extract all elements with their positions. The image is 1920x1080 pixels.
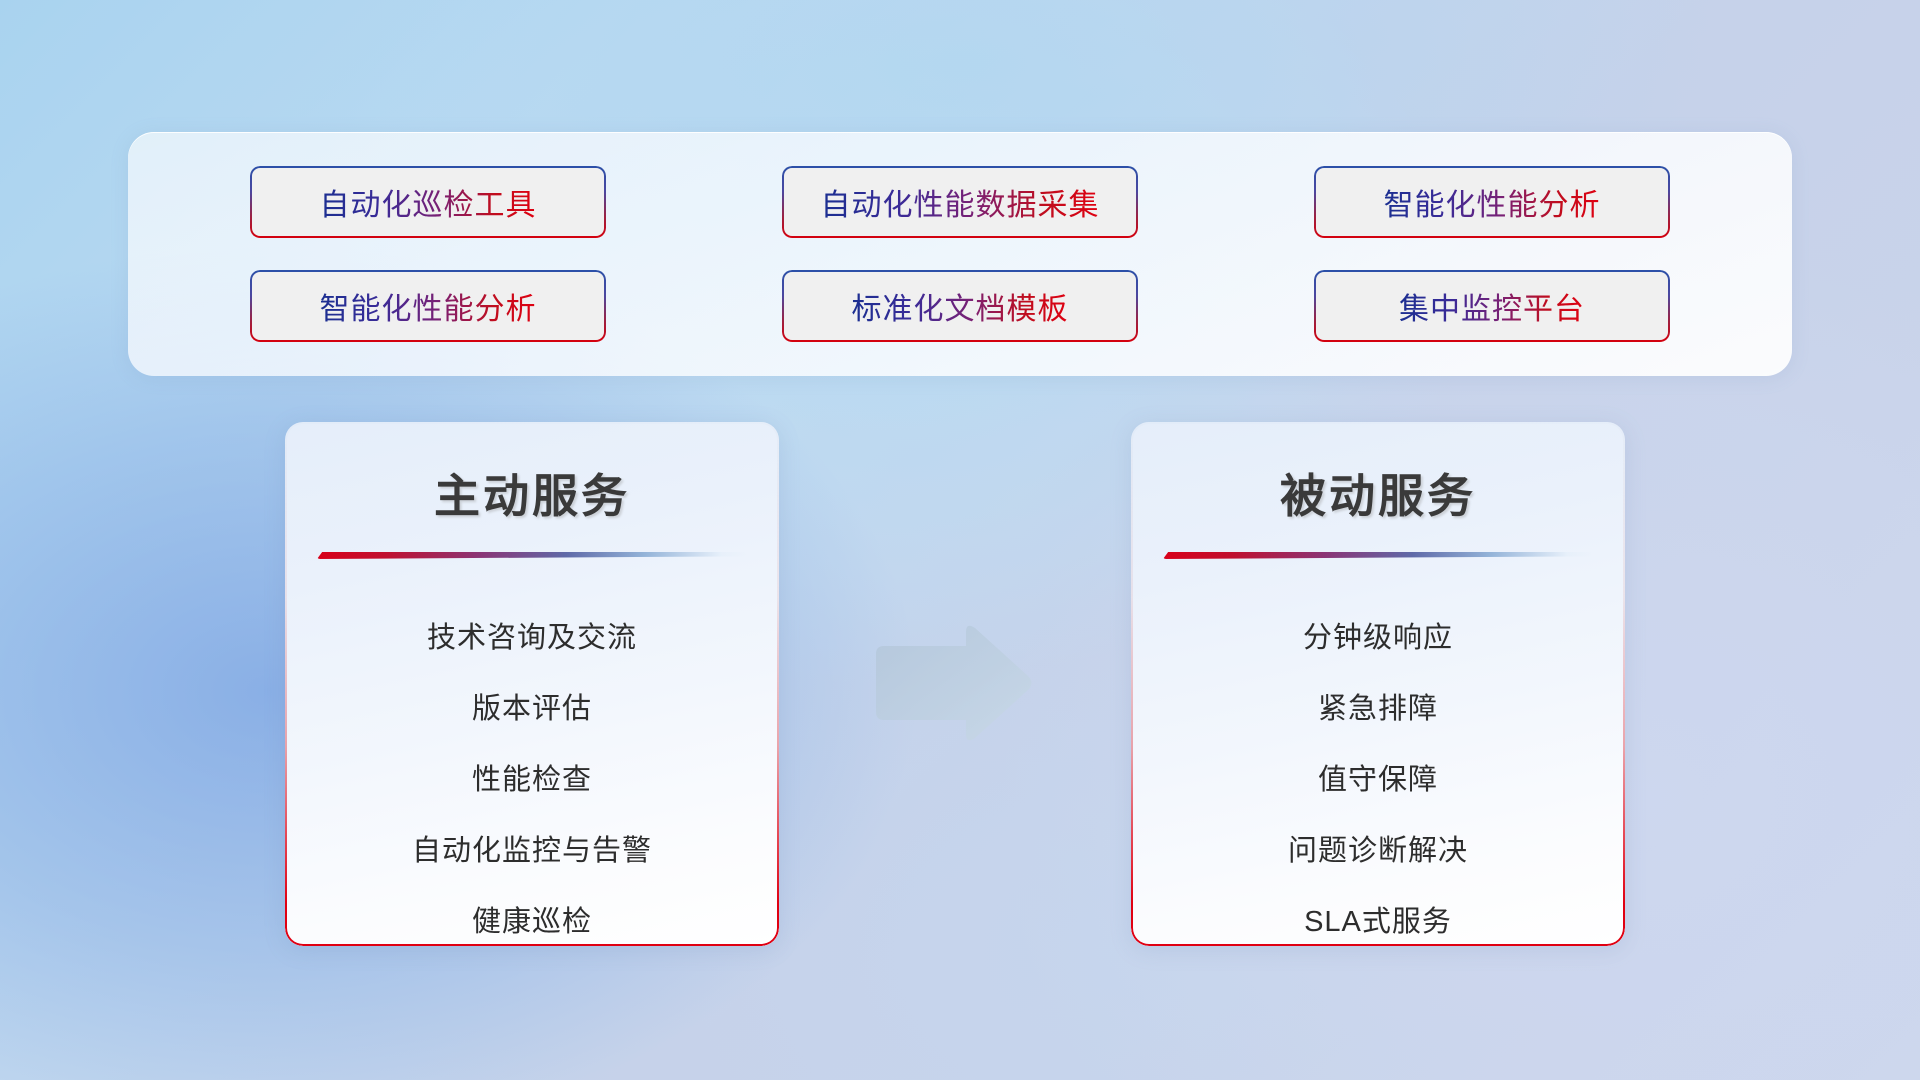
list-item: 分钟级响应	[1131, 603, 1625, 674]
service-card-active: 主动服务 技术咨询及交流 版本评估 性能检查 自动化监控与告警 健康巡检	[285, 422, 779, 946]
list-item: 版本评估	[285, 674, 779, 745]
list-item: 健康巡检	[285, 887, 779, 946]
capability-tag-grid: 自动化巡检工具 自动化性能数据采集 智能化性能分析 智能化性能分析 标准化文档模…	[128, 132, 1792, 376]
capability-tag-label: 自动化性能数据采集	[821, 180, 1100, 224]
capability-panel: 自动化巡检工具 自动化性能数据采集 智能化性能分析 智能化性能分析 标准化文档模…	[128, 132, 1792, 376]
capability-tag-label: 智能化性能分析	[320, 284, 537, 328]
arrow-right-icon	[872, 622, 1034, 744]
list-item: 问题诊断解决	[1131, 816, 1625, 887]
list-item: 值守保障	[1131, 745, 1625, 816]
capability-tag-label: 集中监控平台	[1399, 284, 1585, 328]
slide-canvas: 自动化巡检工具 自动化性能数据采集 智能化性能分析 智能化性能分析 标准化文档模…	[0, 0, 1920, 1080]
capability-tag[interactable]: 智能化性能分析	[250, 270, 606, 342]
card-title-active: 主动服务	[285, 460, 779, 526]
title-rule	[317, 552, 747, 559]
capability-tag[interactable]: 自动化性能数据采集	[782, 166, 1138, 238]
capability-tag[interactable]: 标准化文档模板	[782, 270, 1138, 342]
list-item: 性能检查	[285, 745, 779, 816]
card-title-passive: 被动服务	[1131, 460, 1625, 526]
title-rule	[1163, 552, 1593, 559]
list-item: 技术咨询及交流	[285, 603, 779, 674]
list-item: SLA式服务	[1131, 887, 1625, 946]
list-item: 紧急排障	[1131, 674, 1625, 745]
capability-tag[interactable]: 集中监控平台	[1314, 270, 1670, 342]
list-item: 自动化监控与告警	[285, 816, 779, 887]
capability-tag-label: 标准化文档模板	[852, 284, 1069, 328]
capability-tag-label: 智能化性能分析	[1384, 180, 1601, 224]
capability-tag[interactable]: 自动化巡检工具	[250, 166, 606, 238]
capability-tag-label: 自动化巡检工具	[320, 180, 537, 224]
service-card-passive: 被动服务 分钟级响应 紧急排障 值守保障 问题诊断解决 SLA式服务	[1131, 422, 1625, 946]
capability-tag[interactable]: 智能化性能分析	[1314, 166, 1670, 238]
service-list-passive: 分钟级响应 紧急排障 值守保障 问题诊断解决 SLA式服务	[1131, 603, 1625, 946]
service-list-active: 技术咨询及交流 版本评估 性能检查 自动化监控与告警 健康巡检	[285, 603, 779, 946]
